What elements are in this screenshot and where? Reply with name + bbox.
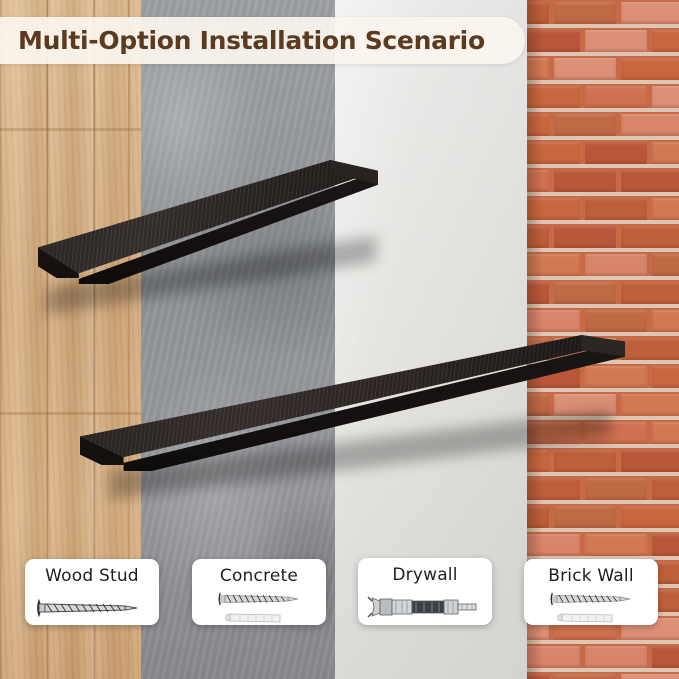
brick-row xyxy=(527,140,679,168)
brick xyxy=(585,646,647,668)
brick xyxy=(585,310,647,332)
brick xyxy=(652,198,679,220)
brick xyxy=(554,114,616,136)
wall-plug-icon xyxy=(226,614,280,622)
brick xyxy=(621,170,679,192)
wood-screw-icon xyxy=(33,593,151,623)
brick xyxy=(527,86,580,108)
brick xyxy=(652,646,679,668)
brick xyxy=(621,674,679,679)
brick xyxy=(527,30,580,52)
brick xyxy=(554,282,616,304)
concrete-hardware-group xyxy=(200,589,318,629)
brick xyxy=(527,282,549,304)
wall-plug-icon xyxy=(558,614,612,622)
brick xyxy=(527,58,549,80)
upper-shelf-top-face xyxy=(38,160,378,278)
brick xyxy=(621,394,679,416)
brick xyxy=(554,506,616,528)
option-card-drywall[interactable]: Drywall xyxy=(358,558,492,625)
brick xyxy=(621,506,679,528)
brick xyxy=(527,646,580,668)
brick xyxy=(554,674,616,679)
brick xyxy=(621,58,679,80)
brick xyxy=(527,310,580,332)
product-scene: Multi-Option Installation Scenario Wood … xyxy=(0,0,679,679)
brick xyxy=(652,86,679,108)
option-card-wood-stud[interactable]: Wood Stud xyxy=(25,559,159,625)
brick xyxy=(554,226,616,248)
brick xyxy=(621,2,679,24)
page-title: Multi-Option Installation Scenario xyxy=(18,26,485,55)
brick xyxy=(527,114,549,136)
brick xyxy=(585,86,647,108)
brick xyxy=(527,226,549,248)
brick xyxy=(585,30,647,52)
option-label: Concrete xyxy=(220,566,298,587)
molly-bolt-anchor-icon xyxy=(366,592,484,622)
brick xyxy=(527,478,580,500)
brick-row xyxy=(527,168,679,196)
brick-row xyxy=(527,308,679,336)
wood-screw-icon xyxy=(551,592,631,606)
brick xyxy=(621,338,679,360)
lower-shelf-top-face xyxy=(80,335,625,465)
brick-row xyxy=(527,504,679,532)
title-banner: Multi-Option Installation Scenario xyxy=(0,17,525,64)
upper-shelf xyxy=(38,160,378,280)
brick xyxy=(527,534,580,556)
brick xyxy=(652,422,679,444)
lower-shelf xyxy=(80,335,625,470)
option-label: Brick Wall xyxy=(548,566,634,587)
brick xyxy=(652,310,679,332)
option-label: Wood Stud xyxy=(45,566,139,587)
brick xyxy=(527,198,580,220)
brick xyxy=(585,198,647,220)
brick xyxy=(621,282,679,304)
brick xyxy=(527,142,580,164)
brick-row xyxy=(527,224,679,252)
brick xyxy=(621,114,679,136)
brick xyxy=(527,506,549,528)
brick-row xyxy=(527,196,679,224)
brick xyxy=(621,226,679,248)
brick xyxy=(527,170,549,192)
brick xyxy=(652,254,679,276)
brick-row xyxy=(527,28,679,56)
brick-hardware-group xyxy=(532,589,650,629)
brick xyxy=(585,142,647,164)
brick-row xyxy=(527,476,679,504)
brick-row xyxy=(527,56,679,84)
brick xyxy=(585,478,647,500)
brick xyxy=(585,254,647,276)
brick xyxy=(554,2,616,24)
brick xyxy=(527,254,580,276)
brick xyxy=(652,366,679,388)
option-label: Drywall xyxy=(392,565,457,586)
brick xyxy=(652,30,679,52)
brick xyxy=(621,450,679,472)
brick-row xyxy=(527,0,679,28)
wood-screw-icon xyxy=(219,592,299,606)
option-card-concrete[interactable]: Concrete xyxy=(192,559,326,625)
brick xyxy=(554,58,616,80)
brick xyxy=(585,534,647,556)
option-card-brick-wall[interactable]: Brick Wall xyxy=(524,559,658,625)
brick-row xyxy=(527,252,679,280)
brick xyxy=(652,534,679,556)
brick-row xyxy=(527,672,679,679)
brick-row xyxy=(527,112,679,140)
brick xyxy=(652,142,679,164)
brick xyxy=(527,674,549,679)
brick-row xyxy=(527,280,679,308)
brick-row xyxy=(527,532,679,560)
brick xyxy=(554,170,616,192)
brick-row xyxy=(527,644,679,672)
brick xyxy=(527,2,549,24)
brick-row xyxy=(527,84,679,112)
brick xyxy=(652,478,679,500)
